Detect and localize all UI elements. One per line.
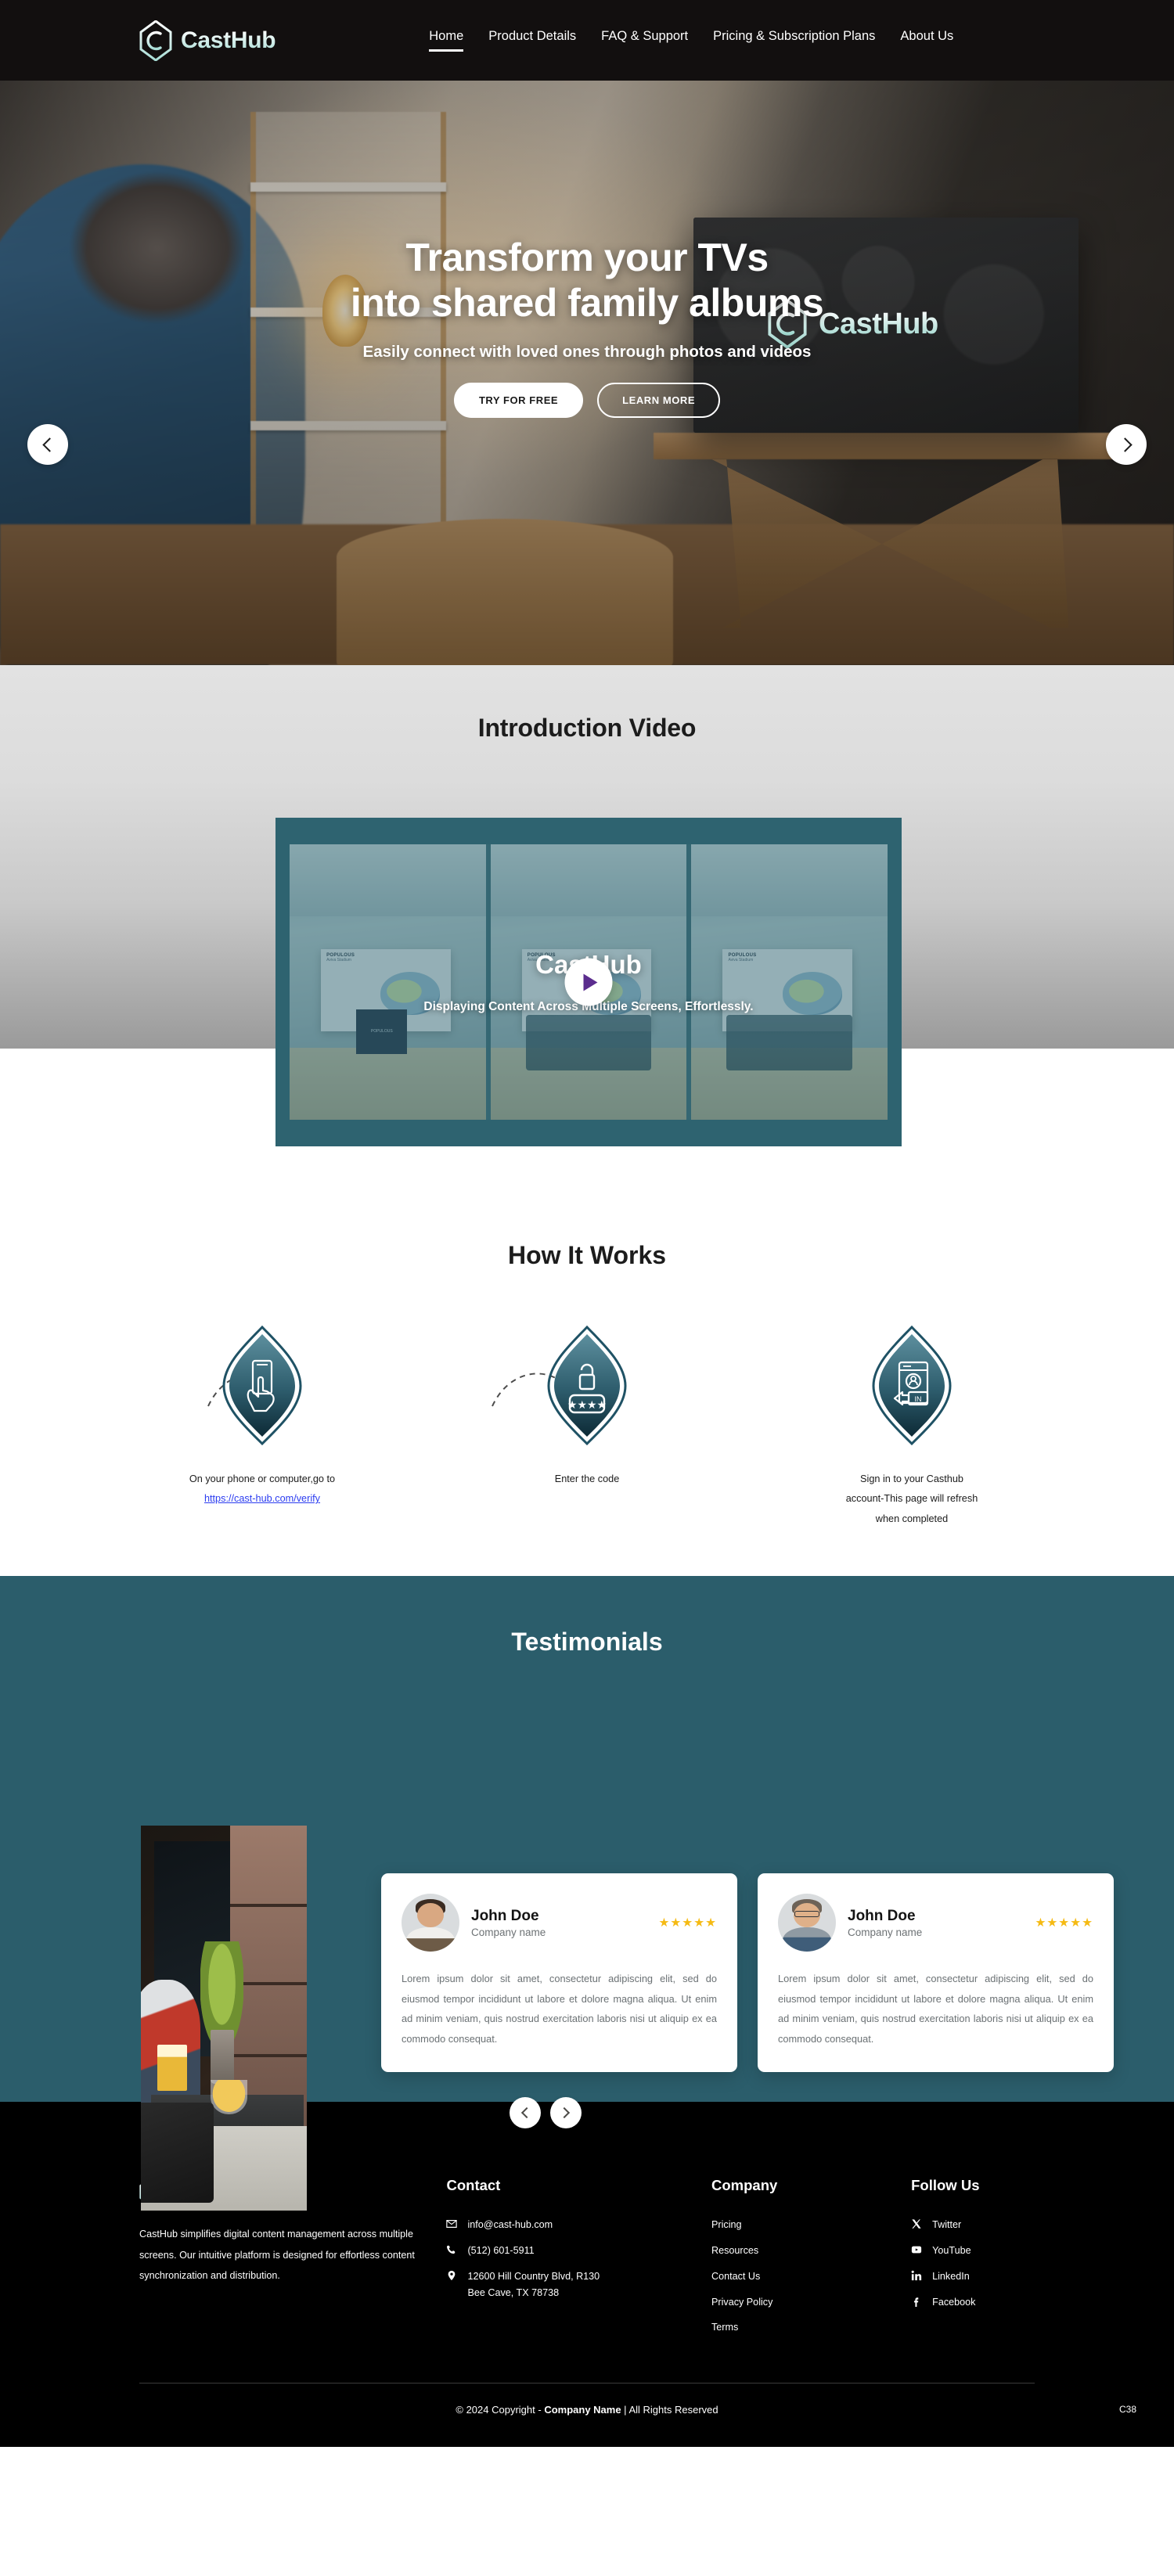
footer-social-youtube[interactable]: YouTube bbox=[911, 2243, 1080, 2259]
brand-name: CastHub bbox=[181, 27, 275, 54]
footer-contact-heading: Contact bbox=[446, 2177, 711, 2194]
video-player[interactable]: POPULOUS Aviva Stadium POPULOUS POPULOUS… bbox=[275, 818, 902, 1146]
hero-heading-line-2: into shared family albums bbox=[0, 280, 1174, 326]
hero-carousel: CastHub Transform your TVs into shared f… bbox=[0, 81, 1174, 665]
youtube-icon bbox=[911, 2244, 922, 2255]
try-for-free-button[interactable]: TRY FOR FREE bbox=[454, 383, 583, 418]
footer-email: info@cast-hub.com bbox=[467, 2217, 553, 2233]
sign-in-icon: IN bbox=[870, 1325, 954, 1446]
introduction-video-title: Introduction Video bbox=[0, 665, 1174, 743]
footer-follow-column: Follow Us Twitter YouTube bbox=[911, 2177, 1080, 2345]
how-it-works-step-3: IN Sign in to your Casthub account-This … bbox=[832, 1325, 992, 1529]
footer-email-row[interactable]: info@cast-hub.com bbox=[446, 2217, 711, 2233]
testimonial-photo bbox=[141, 1826, 307, 2211]
hero-heading: Transform your TVs into shared family al… bbox=[0, 235, 1174, 326]
nav-item-faq-support[interactable]: FAQ & Support bbox=[601, 29, 688, 52]
step-1-caption: On your phone or computer,go to https://… bbox=[182, 1470, 343, 1509]
footer-social-twitter[interactable]: Twitter bbox=[911, 2217, 1080, 2233]
testimonial-card: John Doe Company name ★★★★★ Lorem ipsum … bbox=[381, 1873, 737, 2072]
main-navigation: Home Product Details FAQ & Support Prici… bbox=[429, 29, 953, 52]
footer-contact-column: Contact info@cast-hub.com (512) 601-5911 bbox=[446, 2177, 711, 2345]
step-3-caption: Sign in to your Casthub account-This pag… bbox=[832, 1470, 992, 1529]
site-header: CastHub Home Product Details FAQ & Suppo… bbox=[0, 0, 1174, 81]
testimonial-card: John Doe Company name ★★★★★ Lorem ipsum … bbox=[758, 1873, 1114, 2072]
linkedin-icon bbox=[911, 2270, 922, 2281]
play-icon bbox=[584, 973, 598, 991]
step-3-caption-line-3: when completed bbox=[832, 1509, 992, 1529]
testimonial-card-header: John Doe Company name ★★★★★ bbox=[778, 1894, 1093, 1952]
phone-tap-icon bbox=[220, 1325, 304, 1446]
footer-description: CastHub simplifies digital content manag… bbox=[139, 2224, 415, 2286]
glasses-icon bbox=[794, 1911, 819, 1917]
footer-bottom-bar: © 2024 Copyright - Company Name | All Ri… bbox=[0, 2384, 1174, 2447]
nav-item-pricing-subscription-plans[interactable]: Pricing & Subscription Plans bbox=[713, 29, 875, 52]
nav-item-home[interactable]: Home bbox=[429, 29, 463, 52]
step-3-caption-line-2: account-This page will refresh bbox=[832, 1489, 992, 1509]
footer-address-line-2: Bee Cave, TX 78738 bbox=[467, 2287, 559, 2298]
verify-url-link[interactable]: https://cast-hub.com/verify bbox=[204, 1493, 320, 1504]
facebook-icon bbox=[911, 2296, 922, 2307]
how-it-works-title: How It Works bbox=[0, 1241, 1174, 1270]
hero-subheading: Easily connect with loved ones through p… bbox=[0, 343, 1174, 362]
testimonial-company: Company name bbox=[848, 1927, 922, 1938]
how-it-works-step-1: On your phone or computer,go to https://… bbox=[182, 1325, 343, 1529]
svg-text:IN: IN bbox=[915, 1395, 922, 1403]
rating-stars: ★★★★★ bbox=[659, 1916, 717, 1930]
step-2-caption: Enter the code bbox=[507, 1470, 668, 1489]
footer-link-resources[interactable]: Resources bbox=[711, 2243, 911, 2259]
hero-prev-button[interactable] bbox=[27, 424, 68, 465]
casthub-hexagon-logo-icon bbox=[139, 20, 172, 61]
nav-item-about-us[interactable]: About Us bbox=[900, 29, 953, 52]
footer-company-column: Company Pricing Resources Contact Us Pri… bbox=[711, 2177, 911, 2345]
testimonials-title: Testimonials bbox=[0, 1628, 1174, 1657]
testimonial-company: Company name bbox=[471, 1927, 546, 1938]
copyright-suffix: | All Rights Reserved bbox=[621, 2404, 718, 2416]
step-3-badge: IN bbox=[870, 1325, 954, 1446]
footer-social-linkedin[interactable]: LinkedIn bbox=[911, 2268, 1080, 2285]
svg-text:★★★★: ★★★★ bbox=[567, 1399, 607, 1412]
avatar bbox=[402, 1894, 459, 1952]
footer-link-terms[interactable]: Terms bbox=[711, 2319, 911, 2336]
footer-social-label: LinkedIn bbox=[932, 2268, 970, 2285]
footer-link-pricing[interactable]: Pricing bbox=[711, 2217, 911, 2233]
footer-social-label: YouTube bbox=[932, 2243, 971, 2259]
footer-link-contact-us[interactable]: Contact Us bbox=[711, 2268, 911, 2285]
chevron-left-icon bbox=[521, 2107, 532, 2118]
play-button[interactable] bbox=[565, 959, 613, 1006]
chevron-right-icon bbox=[1118, 437, 1132, 452]
hero-actions: TRY FOR FREE LEARN MORE bbox=[0, 383, 1174, 418]
how-it-works-step-2: ★★★★ Enter the code bbox=[507, 1325, 668, 1529]
how-it-works-steps: On your phone or computer,go to https://… bbox=[0, 1325, 1174, 1529]
footer-address: 12600 Hill Country Blvd, R130 Bee Cave, … bbox=[467, 2268, 600, 2301]
map-pin-icon bbox=[446, 2270, 457, 2281]
hero-content: Transform your TVs into shared family al… bbox=[0, 81, 1174, 418]
testimonial-name: John Doe bbox=[471, 1907, 546, 1926]
testimonial-name: John Doe bbox=[848, 1907, 922, 1926]
step-1-caption-line: On your phone or computer,go to bbox=[182, 1470, 343, 1489]
testimonial-text: Lorem ipsum dolor sit amet, consectetur … bbox=[402, 1969, 717, 2049]
step-3-caption-line-1: Sign in to your Casthub bbox=[832, 1470, 992, 1489]
footer-address-row[interactable]: 12600 Hill Country Blvd, R130 Bee Cave, … bbox=[446, 2268, 711, 2301]
footer-link-privacy-policy[interactable]: Privacy Policy bbox=[711, 2294, 911, 2311]
chevron-left-icon bbox=[42, 437, 56, 452]
footer-phone: (512) 601-5911 bbox=[467, 2243, 534, 2259]
brand-logo[interactable]: CastHub bbox=[139, 20, 275, 61]
envelope-icon bbox=[446, 2218, 457, 2229]
testimonial-text: Lorem ipsum dolor sit amet, consectetur … bbox=[778, 1969, 1093, 2049]
copyright-prefix: © 2024 Copyright - bbox=[456, 2404, 544, 2416]
step-1-badge bbox=[220, 1325, 304, 1446]
learn-more-button[interactable]: LEARN MORE bbox=[597, 383, 720, 418]
chevron-right-icon bbox=[559, 2107, 570, 2118]
testimonial-card-header: John Doe Company name ★★★★★ bbox=[402, 1894, 717, 1952]
footer-company-heading: Company bbox=[711, 2177, 911, 2194]
footer-address-line-1: 12600 Hill Country Blvd, R130 bbox=[467, 2271, 600, 2282]
step-2-badge: ★★★★ bbox=[545, 1325, 629, 1446]
build-code: C38 bbox=[1119, 2404, 1136, 2415]
copyright-company: Company Name bbox=[544, 2404, 621, 2416]
video-thumbnail: POPULOUS Aviva Stadium POPULOUS POPULOUS… bbox=[290, 844, 888, 1120]
x-twitter-icon bbox=[911, 2218, 922, 2229]
testimonial-cards: John Doe Company name ★★★★★ Lorem ipsum … bbox=[381, 1873, 1114, 2072]
hero-heading-line-1: Transform your TVs bbox=[0, 235, 1174, 280]
rating-stars: ★★★★★ bbox=[1035, 1916, 1093, 1930]
footer-social-facebook[interactable]: Facebook bbox=[911, 2294, 1080, 2311]
copyright-text: © 2024 Copyright - Company Name | All Ri… bbox=[0, 2404, 1174, 2416]
testimonial-navigation bbox=[510, 2097, 582, 2128]
nav-item-product-details[interactable]: Product Details bbox=[488, 29, 576, 52]
footer-phone-row[interactable]: (512) 601-5911 bbox=[446, 2243, 711, 2259]
avatar bbox=[778, 1894, 836, 1952]
lock-passcode-icon: ★★★★ bbox=[545, 1325, 629, 1446]
step-2-caption-line: Enter the code bbox=[507, 1470, 668, 1489]
footer-follow-heading: Follow Us bbox=[911, 2177, 1080, 2194]
testimonial-next-button[interactable] bbox=[550, 2097, 582, 2128]
hero-next-button[interactable] bbox=[1106, 424, 1147, 465]
footer-social-label: Twitter bbox=[932, 2217, 961, 2233]
phone-icon bbox=[446, 2244, 457, 2255]
footer-social-label: Facebook bbox=[932, 2294, 975, 2311]
testimonial-prev-button[interactable] bbox=[510, 2097, 541, 2128]
